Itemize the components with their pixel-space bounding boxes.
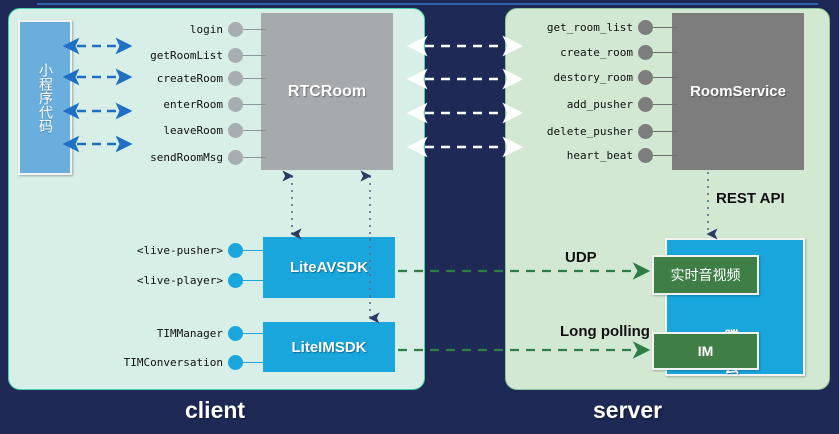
roomservice-port: heart_beat — [528, 147, 678, 163]
port-leader-line — [243, 104, 266, 105]
port-leader-line — [243, 78, 266, 79]
rtcroom-port-label: createRoom — [128, 72, 223, 85]
rtcroom-port: sendRoomMsg — [128, 149, 266, 165]
port-leader-line — [243, 280, 266, 281]
port-dot-icon — [228, 71, 243, 86]
client-caption: client — [185, 397, 245, 424]
liteavsdk-port-label: <live-pusher> — [128, 244, 223, 257]
port-dot-icon — [228, 97, 243, 112]
roomservice-port: create_room — [528, 44, 678, 60]
port-leader-line — [243, 55, 266, 56]
port-leader-line — [243, 362, 266, 363]
liteimsdk-port-label: TIMConversation — [118, 356, 223, 369]
port-dot-icon — [228, 326, 243, 341]
port-dot-icon — [638, 70, 653, 85]
rtcroom-block[interactable]: RTCRoom — [261, 13, 393, 170]
port-dot-icon — [228, 150, 243, 165]
roomservice-port-label: destory_room — [528, 71, 633, 84]
udp-label: UDP — [565, 249, 597, 266]
rtcroom-port: enterRoom — [128, 96, 266, 112]
port-leader-line — [653, 131, 678, 132]
rtcroom-port-label: getRoomList — [128, 49, 223, 62]
liteavsdk-block[interactable]: LiteAVSDK — [263, 237, 395, 298]
port-dot-icon — [228, 22, 243, 37]
port-leader-line — [653, 104, 678, 105]
port-dot-icon — [638, 148, 653, 163]
port-dot-icon — [638, 97, 653, 112]
liteavsdk-port: <live-player> — [128, 272, 266, 288]
rtcroom-port-label: enterRoom — [128, 98, 223, 111]
roomservice-block[interactable]: RoomService — [672, 13, 804, 170]
roomservice-port: get_room_list — [528, 19, 678, 35]
port-dot-icon — [228, 355, 243, 370]
roomservice-port-label: add_pusher — [528, 98, 633, 111]
realtime-av-service-box[interactable]: 实时音视频 — [652, 255, 759, 295]
diagram-canvas: 小程序代码 RTCRoom LiteAVSDK LiteIMSDK login … — [0, 0, 839, 434]
client-server-arrows — [425, 46, 505, 147]
rtcroom-port: login — [128, 21, 266, 37]
port-dot-icon — [228, 48, 243, 63]
port-leader-line — [653, 155, 678, 156]
liteimsdk-block[interactable]: LiteIMSDK — [263, 322, 395, 372]
roomservice-port: delete_pusher — [528, 123, 678, 139]
port-dot-icon — [228, 243, 243, 258]
port-leader-line — [243, 333, 266, 334]
rtcroom-port: createRoom — [128, 70, 266, 86]
top-accent-line — [37, 3, 818, 5]
port-dot-icon — [638, 124, 653, 139]
roomservice-port-label: heart_beat — [528, 149, 633, 162]
rtcroom-port: getRoomList — [128, 47, 266, 63]
port-leader-line — [653, 52, 678, 53]
port-leader-line — [243, 130, 266, 131]
liteimsdk-port-label: TIMManager — [118, 327, 223, 340]
rtcroom-port-label: login — [128, 23, 223, 36]
port-dot-icon — [638, 45, 653, 60]
liteimsdk-port: TIMConversation — [118, 354, 266, 370]
server-caption: server — [593, 397, 662, 424]
roomservice-port-label: create_room — [528, 46, 633, 59]
roomservice-port-label: get_room_list — [528, 21, 633, 34]
port-leader-line — [653, 27, 678, 28]
long-polling-label: Long polling — [560, 323, 650, 340]
mini-program-code-box[interactable]: 小程序代码 — [18, 20, 72, 175]
roomservice-port: destory_room — [528, 69, 678, 85]
port-leader-line — [653, 77, 678, 78]
liteavsdk-port: <live-pusher> — [128, 242, 266, 258]
port-dot-icon — [228, 273, 243, 288]
rtcroom-port-label: leaveRoom — [128, 124, 223, 137]
port-leader-line — [243, 250, 266, 251]
roomservice-port-label: delete_pusher — [528, 125, 633, 138]
port-dot-icon — [228, 123, 243, 138]
rest-api-label: REST API — [716, 190, 785, 207]
rtcroom-port-label: sendRoomMsg — [128, 151, 223, 164]
roomservice-port: add_pusher — [528, 96, 678, 112]
liteavsdk-port-label: <live-player> — [128, 274, 223, 287]
liteimsdk-port: TIMManager — [118, 325, 266, 341]
port-dot-icon — [638, 20, 653, 35]
port-leader-line — [243, 157, 266, 158]
im-service-box[interactable]: IM — [652, 332, 759, 370]
rtcroom-port: leaveRoom — [128, 122, 266, 138]
port-leader-line — [243, 29, 266, 30]
